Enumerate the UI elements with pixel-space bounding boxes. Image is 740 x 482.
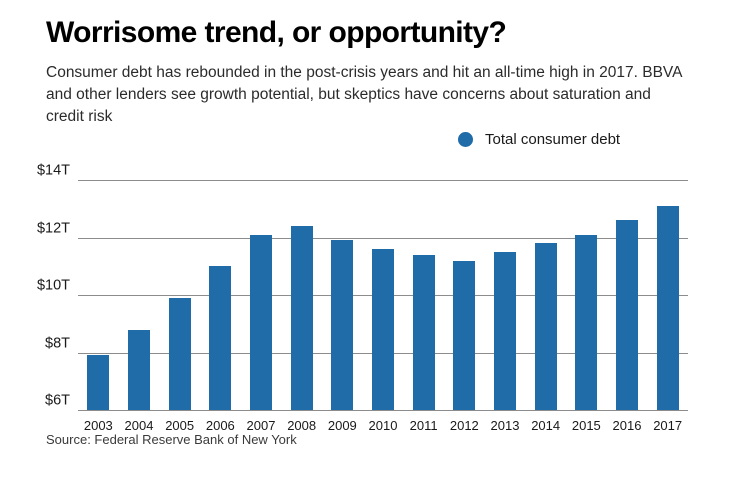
y-axis-tick-label: $14T [37, 162, 70, 178]
x-axis-tick-label: 2009 [328, 418, 357, 433]
x-axis-tick-label: 2005 [165, 418, 194, 433]
y-axis-tick-label: $12T [37, 220, 70, 236]
bar [291, 226, 313, 410]
x-axis-tick-label: 2008 [287, 418, 316, 433]
bar [494, 252, 516, 410]
bar [575, 235, 597, 410]
x-axis-tick-label: 2007 [247, 418, 276, 433]
infographic-page: Worrisome trend, or opportunity? Consume… [0, 0, 740, 482]
x-axis-tick-label: 2016 [613, 418, 642, 433]
bar-group: 2017 [647, 180, 688, 410]
bar [128, 330, 150, 411]
plot-area: $14T$12T$10T$8T$6T 200320042005200620072… [78, 180, 688, 410]
x-axis-tick-label: 2014 [531, 418, 560, 433]
bar-chart: $14T$12T$10T$8T$6T 200320042005200620072… [78, 172, 688, 412]
chart-legend: Total consumer debt [458, 131, 620, 148]
circle-marker-icon [458, 132, 473, 147]
bar-group: 2013 [485, 180, 526, 410]
bar-group: 2010 [363, 180, 404, 410]
bar [453, 261, 475, 411]
page-title: Worrisome trend, or opportunity? [46, 16, 506, 49]
bar-series: 2003200420052006200720082009201020112012… [78, 180, 688, 410]
bar-group: 2014 [525, 180, 566, 410]
bar-group: 2006 [200, 180, 241, 410]
bar [657, 206, 679, 410]
x-axis-tick-label: 2004 [125, 418, 154, 433]
bar-group: 2007 [241, 180, 282, 410]
x-axis-tick-label: 2015 [572, 418, 601, 433]
x-axis-tick-label: 2003 [84, 418, 113, 433]
bar-group: 2011 [403, 180, 444, 410]
legend-item-label: Total consumer debt [485, 131, 620, 148]
bar [372, 249, 394, 410]
gridline: $6T [78, 410, 688, 411]
bar-group: 2015 [566, 180, 607, 410]
bar-group: 2012 [444, 180, 485, 410]
y-axis-tick-label: $6T [45, 392, 70, 408]
bar [413, 255, 435, 410]
x-axis-tick-label: 2010 [369, 418, 398, 433]
x-axis-tick-label: 2017 [653, 418, 682, 433]
bar [250, 235, 272, 410]
x-axis-tick-label: 2013 [491, 418, 520, 433]
bar [331, 240, 353, 410]
bar-group: 2005 [159, 180, 200, 410]
bar [616, 220, 638, 410]
page-subtitle: Consumer debt has rebounded in the post-… [46, 62, 686, 128]
x-axis-tick-label: 2012 [450, 418, 479, 433]
source-note: Source: Federal Reserve Bank of New York [46, 432, 297, 447]
bar-group: 2004 [119, 180, 160, 410]
y-axis-tick-label: $8T [45, 335, 70, 351]
bar [87, 355, 109, 410]
bar [535, 243, 557, 410]
bar [169, 298, 191, 410]
bar-group: 2009 [322, 180, 363, 410]
bar-group: 2003 [78, 180, 119, 410]
bar [209, 266, 231, 410]
bar-group: 2008 [281, 180, 322, 410]
bar-group: 2016 [607, 180, 648, 410]
y-axis-tick-label: $10T [37, 277, 70, 293]
x-axis-tick-label: 2006 [206, 418, 235, 433]
x-axis-tick-label: 2011 [410, 418, 438, 433]
